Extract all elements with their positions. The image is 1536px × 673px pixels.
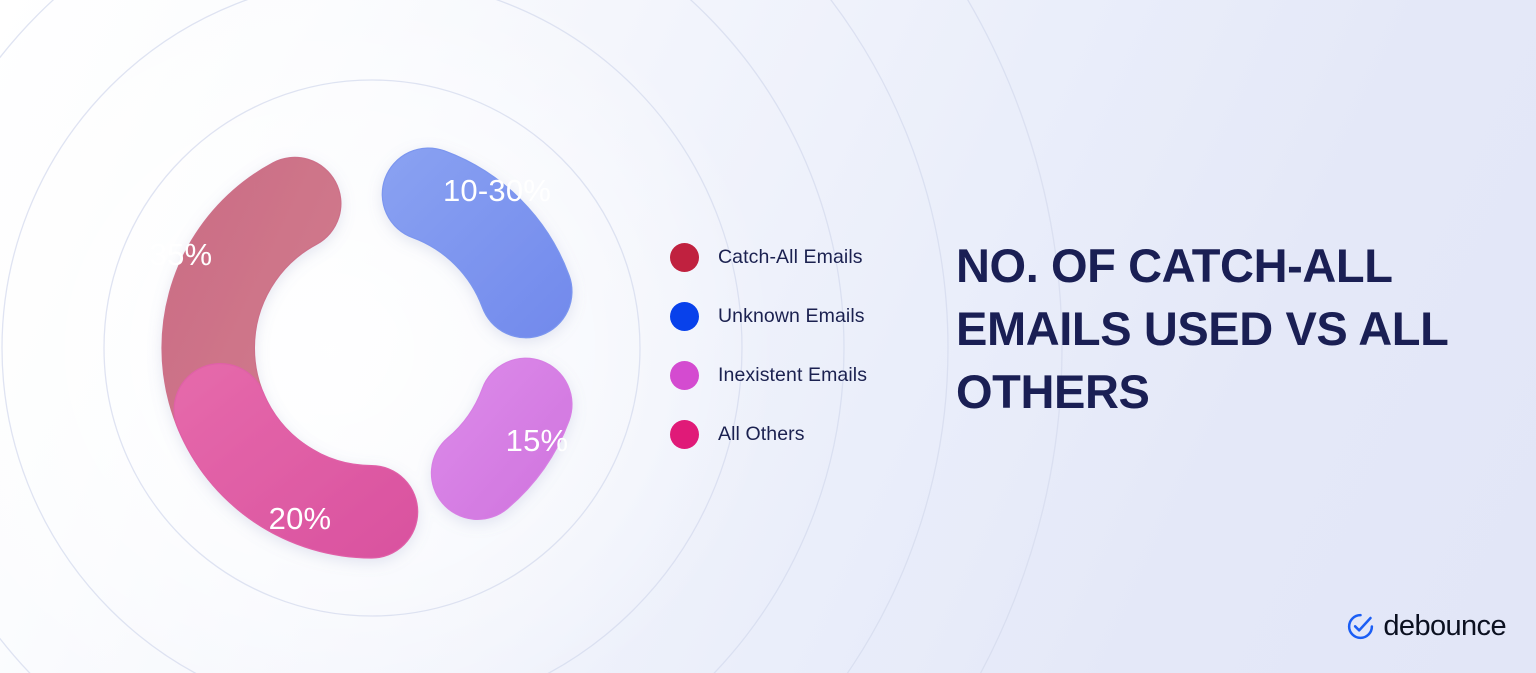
legend-color-swatch bbox=[670, 361, 699, 390]
check-circle-icon bbox=[1347, 613, 1374, 640]
donut-chart: 35%10-30%15%20% bbox=[72, 48, 672, 648]
infographic-canvas: 35%10-30%15%20% Catch-All Emails Unknown… bbox=[0, 0, 1536, 673]
legend-item-label: Catch-All Emails bbox=[718, 246, 863, 269]
slice-value-label: 35% bbox=[150, 237, 213, 272]
page-title: NO. OF CATCH-ALL EMAILS USED VS ALL OTHE… bbox=[956, 234, 1516, 423]
legend-item[interactable]: Inexistent Emails bbox=[670, 346, 930, 405]
slice-value-label: 10-30% bbox=[443, 173, 551, 208]
legend-item[interactable]: All Others bbox=[670, 405, 930, 464]
brand-logo[interactable]: debounce bbox=[1347, 610, 1506, 643]
donut-slices bbox=[162, 148, 572, 558]
legend-item[interactable]: Unknown Emails bbox=[670, 287, 930, 346]
legend-color-swatch bbox=[670, 420, 699, 449]
slice-value-label: 20% bbox=[269, 501, 332, 536]
legend-item-label: Unknown Emails bbox=[718, 305, 865, 328]
donut-svg: 35%10-30%15%20% bbox=[72, 48, 672, 648]
legend-color-swatch bbox=[670, 302, 699, 331]
brand-name: debounce bbox=[1383, 610, 1506, 643]
legend-item[interactable]: Catch-All Emails bbox=[670, 228, 930, 287]
legend-item-label: Inexistent Emails bbox=[718, 364, 867, 387]
legend-color-swatch bbox=[670, 243, 699, 272]
slice-value-label: 15% bbox=[506, 423, 569, 458]
legend-item-label: All Others bbox=[718, 423, 805, 446]
legend: Catch-All Emails Unknown Emails Inexiste… bbox=[670, 228, 930, 464]
